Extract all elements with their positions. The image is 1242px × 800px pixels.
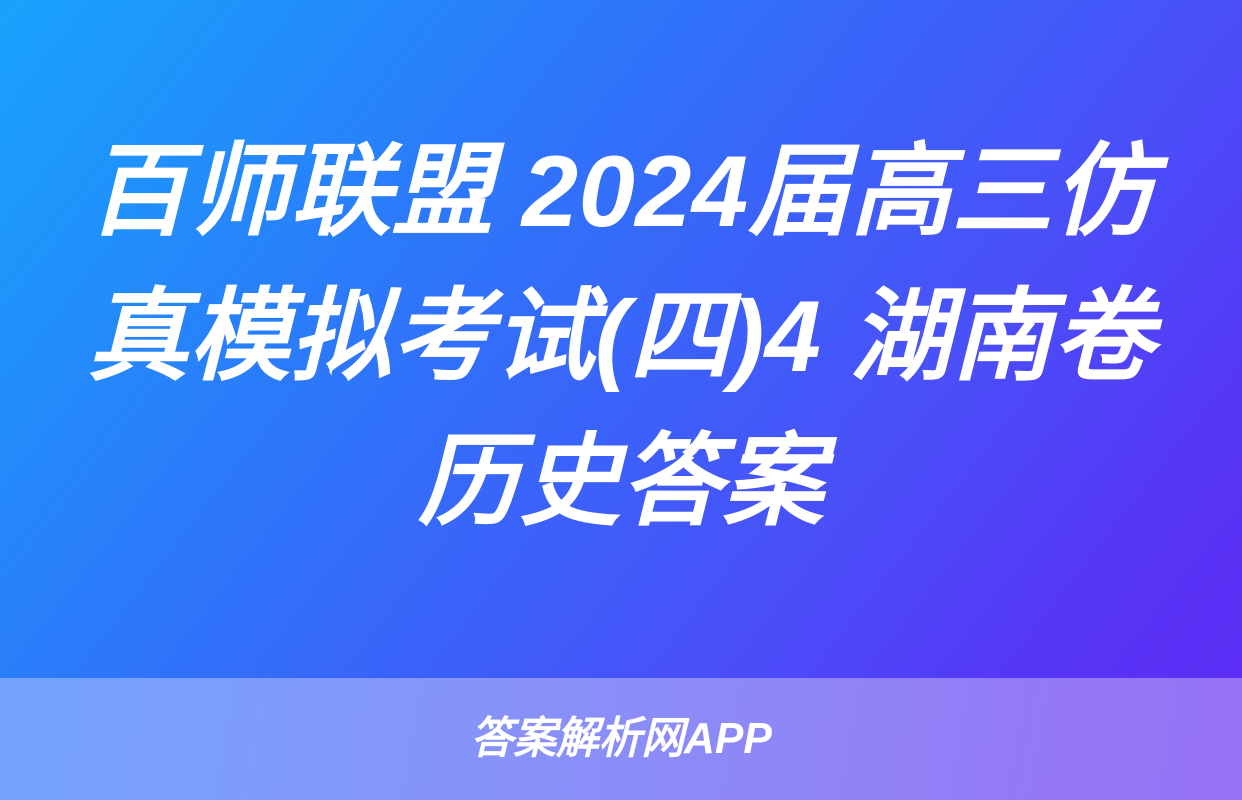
page-title: 百师联盟 2024届高三仿 真模拟考试(四)4 湖南卷 历史答案 — [76, 120, 1166, 559]
footer-watermark-band: 答案解析网APP — [0, 678, 1242, 800]
answer-poster: 百师联盟 2024届高三仿 真模拟考试(四)4 湖南卷 历史答案 答案解析网AP… — [0, 0, 1242, 800]
hero-gradient-banner: 百师联盟 2024届高三仿 真模拟考试(四)4 湖南卷 历史答案 — [0, 0, 1242, 678]
app-watermark-label: 答案解析网APP — [470, 717, 771, 761]
